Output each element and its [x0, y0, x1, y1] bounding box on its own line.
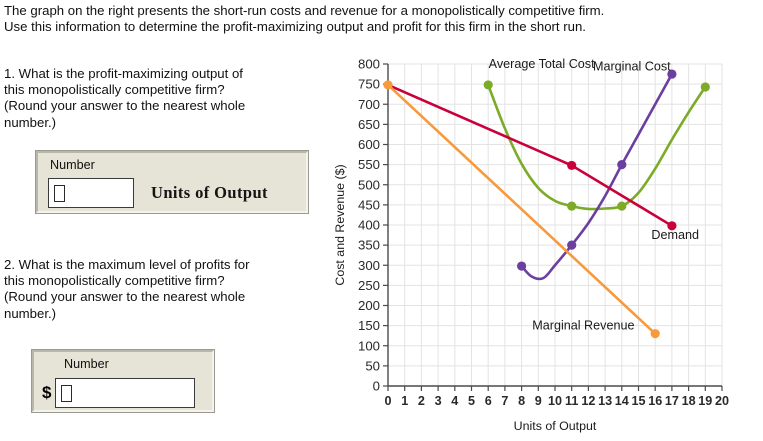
y-tick-label: 750 — [358, 77, 380, 92]
y-tick-label: 800 — [358, 57, 380, 72]
units-of-output-label: Units of Output — [151, 183, 268, 203]
data-point-marginal-cost — [617, 160, 626, 169]
data-point-marginal-cost — [517, 261, 526, 270]
data-point-marginal-revenue — [383, 80, 392, 89]
answer-field-row-profit: $ — [42, 378, 195, 408]
x-tick-label: 0 — [384, 394, 391, 408]
y-tick-label: 550 — [358, 157, 380, 172]
y-tick-label: 300 — [358, 258, 380, 273]
x-tick-label: 5 — [468, 394, 475, 408]
x-tick-label: 17 — [665, 394, 679, 408]
data-point-average-total-cost — [484, 80, 493, 89]
text-caret-icon — [61, 385, 72, 402]
intro-line-2: Use this information to determine the pr… — [4, 19, 756, 35]
x-tick-label: 15 — [631, 394, 645, 408]
question-2-text: 2. What is the maximum level of profits … — [4, 257, 330, 322]
question-1-text: 1. What is the profit-maximizing output … — [4, 66, 330, 131]
y-tick-label: 450 — [358, 197, 380, 212]
x-tick-label: 14 — [615, 394, 629, 408]
intro-line-1: The graph on the right presents the shor… — [4, 3, 756, 19]
questions-panel: 1. What is the profit-maximizing output … — [0, 60, 335, 441]
question-1: 1. What is the profit-maximizing output … — [4, 66, 330, 131]
question-2: 2. What is the maximum level of profits … — [4, 257, 330, 322]
x-tick-label: 2 — [418, 394, 425, 408]
y-axis-title: Cost and Revenue ($) — [333, 164, 347, 285]
answer-field-row-output: Units of Output — [48, 178, 268, 208]
question-2-line-2: this monopolistically competitive firm? — [4, 273, 330, 289]
x-tick-label: 8 — [518, 394, 525, 408]
series-label-average-total-cost: Average Total Cost — [489, 57, 595, 71]
x-tick-label: 1 — [401, 394, 408, 408]
question-1-line-3: (Round your answer to the nearest whole — [4, 98, 330, 114]
x-tick-label: 7 — [501, 394, 508, 408]
y-tick-label: 100 — [358, 338, 380, 353]
y-tick-label: 500 — [358, 177, 380, 192]
x-tick-label: 9 — [535, 394, 542, 408]
answer-label-output: Number — [50, 158, 95, 172]
series-label-marginal-cost: Marginal Cost — [593, 59, 671, 73]
x-tick-label: 3 — [435, 394, 442, 408]
question-1-line-4: number.) — [4, 115, 330, 131]
answer-panel-output: Number Units of Output — [36, 151, 308, 213]
y-tick-label: 150 — [358, 318, 380, 333]
x-tick-label: 12 — [581, 394, 595, 408]
series-label-marginal-revenue: Marginal Revenue — [532, 319, 634, 333]
answer-label-profit: Number — [64, 357, 109, 371]
x-tick-label: 18 — [682, 394, 696, 408]
x-axis-title: Units of Output — [514, 419, 597, 433]
x-tick-label: 16 — [648, 394, 662, 408]
y-tick-label: 350 — [358, 238, 380, 253]
question-2-line-1: 2. What is the maximum level of profits … — [4, 257, 330, 273]
y-tick-label: 0 — [373, 379, 380, 394]
profit-input[interactable] — [55, 378, 195, 408]
data-point-marginal-revenue — [651, 329, 660, 338]
x-tick-label: 20 — [715, 394, 729, 408]
question-2-line-4: number.) — [4, 306, 330, 322]
cost-revenue-chart: 0501001502002503003504004505005506006507… — [330, 52, 763, 441]
question-1-line-1: 1. What is the profit-maximizing output … — [4, 66, 330, 82]
y-tick-label: 650 — [358, 117, 380, 132]
question-1-line-2: this monopolistically competitive firm? — [4, 82, 330, 98]
data-point-demand — [567, 161, 576, 170]
question-2-line-3: (Round your answer to the nearest whole — [4, 289, 330, 305]
data-point-marginal-cost — [567, 241, 576, 250]
y-tick-label: 400 — [358, 218, 380, 233]
x-tick-label: 10 — [548, 394, 562, 408]
series-line-average-total-cost — [488, 85, 705, 209]
text-caret-icon — [54, 185, 65, 202]
x-tick-label: 11 — [565, 394, 578, 408]
data-point-average-total-cost — [567, 201, 576, 210]
output-input[interactable] — [48, 178, 134, 208]
y-tick-label: 200 — [358, 298, 380, 313]
x-tick-label: 6 — [485, 394, 492, 408]
y-tick-label: 600 — [358, 137, 380, 152]
intro-text: The graph on the right presents the shor… — [4, 3, 756, 35]
y-tick-label: 250 — [358, 278, 380, 293]
y-tick-label: 50 — [365, 358, 380, 373]
x-tick-label: 13 — [598, 394, 612, 408]
x-tick-label: 19 — [698, 394, 712, 408]
series-label-demand: Demand — [651, 228, 699, 242]
x-tick-label: 4 — [451, 394, 458, 408]
y-tick-label: 700 — [358, 97, 380, 112]
data-point-average-total-cost — [701, 82, 710, 91]
data-point-average-total-cost — [617, 201, 626, 210]
chart-series — [383, 69, 710, 338]
chart-svg: 0501001502002503003504004505005506006507… — [330, 52, 763, 441]
dollar-sign-icon: $ — [42, 383, 51, 403]
answer-panel-profit: Number $ — [32, 350, 214, 412]
